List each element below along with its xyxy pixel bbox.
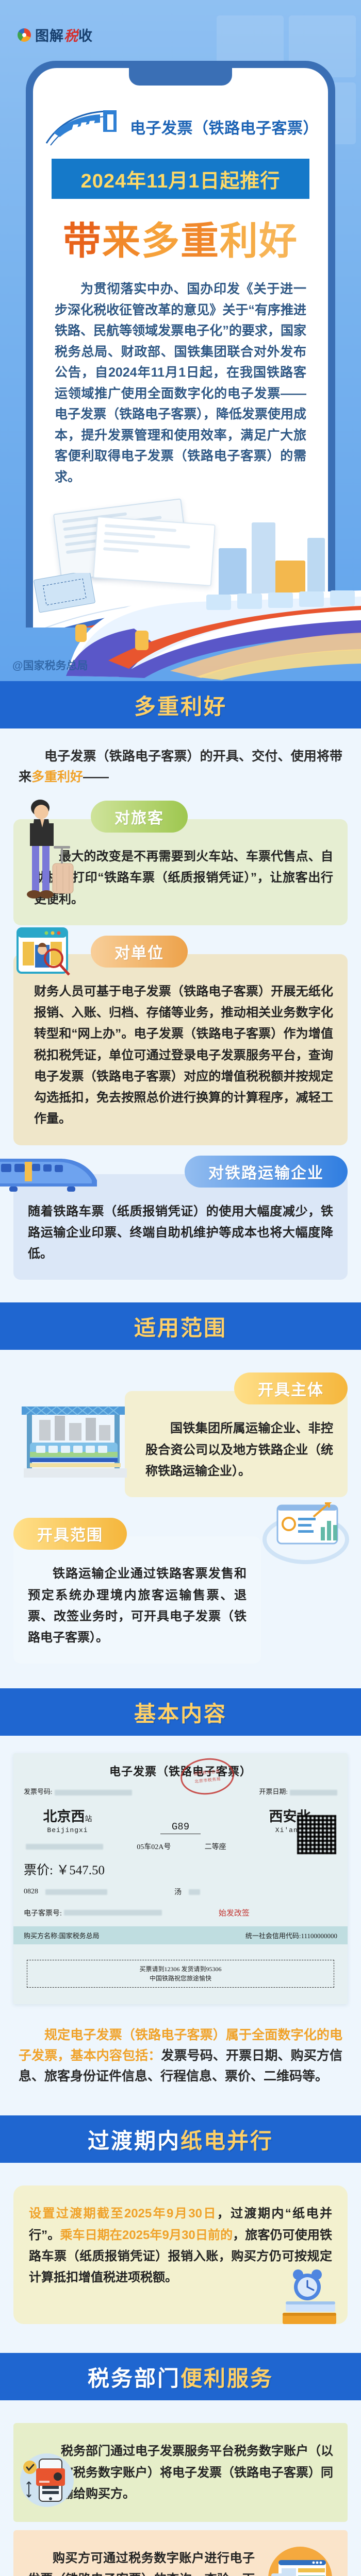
brand-logo: 图解税收 [18, 25, 93, 45]
hero-section: 图解税收 电子发票（铁路电子客票） [0, 0, 361, 681]
transition-body: 设置过渡期截至2025年9月30日，过渡期内“纸电并行”。乘车日期在2025年9… [0, 2185, 361, 2353]
invoice-seat-no: 05车02A号 [137, 1841, 171, 1852]
card-issue-scope-body: 铁路运输企业通过铁路客票发售和预定系统办理境内旅客运输售票、退票、改签业务时，可… [13, 1536, 261, 1664]
invoice-price: 票价: ￥547.50 [24, 1860, 337, 1878]
invoice-route-row: 北京西站 Beijingxi G89 西安北站 Xi'anbei [24, 1805, 337, 1834]
invoice-footer: 买票请到12306 发货请到95306 中国铁路祝您旅途愉快 [24, 1952, 337, 2004]
train-logo-icon [42, 107, 125, 146]
station-illustration-icon [19, 1393, 132, 1486]
invoice-date-field: 开票日期: [259, 1786, 337, 1796]
benefits-body: 电子发票（铁路电子客票）的开具、交付、使用将带来多重利好—— [0, 728, 361, 1302]
invoice-qr-icon [297, 1815, 336, 1854]
card-traveler: 对旅客 最大的改变是不再需要到火车站、车票代售点、自助机上打印“铁路车票（纸质报… [13, 801, 348, 925]
invoice-sample-wrapper: 电子发票（铁路电子客票） 国家税务总局 北京市税务局 发票号码: 开票日期: 北… [13, 1753, 348, 2004]
invoice-passenger-row: 0828 汤 [24, 1887, 337, 1897]
section-banner-transition: 过渡期内纸电并行 [0, 2115, 361, 2163]
card-railway-enterprise: 对铁路运输企业 随着铁路车票（纸质报销凭证）的使用大幅度减少，铁路运输企业印票、… [13, 1156, 348, 1280]
section-banner-basic: 基本内容 [0, 1688, 361, 1736]
invoice-credit-code: 统一社会信用代码:11100000000 [245, 1930, 337, 1940]
card-service-2: 购买方可通过税务数字账户进行电子发票（铁路电子客票）的查询、查验、下载、打印和用… [13, 2530, 348, 2576]
window-search-illustration-icon [15, 926, 72, 983]
brand-mark-icon [18, 28, 31, 42]
invoice-meta-row: 发票号码: 开票日期: [24, 1786, 337, 1796]
infographic-page: 图解税收 电子发票（铁路电子客票） [0, 0, 361, 2576]
invoice-change-flag: 始发改签 [219, 1907, 250, 1918]
invoice-eticket-row: 电子客票号: 始发改签 [24, 1907, 337, 1918]
invoice-footer-box: 买票请到12306 发货请到95306 中国铁路祝您旅途愉快 [27, 1960, 334, 1988]
basic-summary: 规定电子发票（铁路电子客票）属于全面数字化的电子发票，基本内容包括：发票号码、开… [0, 2004, 361, 2090]
card-organization: 对单位 财务人员可基于电子发票（铁路电子客票）开展无纸化报销、入账、归档、存储等… [13, 936, 348, 1145]
traveler-illustration-icon [17, 796, 78, 925]
invoice-number-field: 发票号码: [24, 1786, 132, 1796]
browser-illustration-icon [264, 2543, 336, 2576]
invoice-seat-row: 05车02A号 二等座 [24, 1841, 337, 1852]
invoice-buyer-bar: 购买方名称:国家税务总局 统一社会信用代码:11100000000 [13, 1926, 348, 1944]
phone-card-illustration-icon [17, 2450, 77, 2511]
card-issuer: 开具主体 国铁集团所属运输企业、非控股合资公司以及地方铁路企业（统称铁路运输企业… [13, 1372, 348, 1497]
hero-watermark: @国家税务总局 [12, 657, 88, 673]
phone-notch [129, 68, 232, 86]
section-banner-benefits: 多重利好 [0, 681, 361, 728]
phone-mockup: 电子发票（铁路电子客票） 2024年11月1日起推行 带来多重利好 为贯彻落实中… [26, 61, 335, 628]
invoice-from-station: 北京西站 Beijingxi [24, 1805, 111, 1834]
hero-logo-title: 电子发票（铁路电子客票） [130, 115, 319, 138]
section-banner-service: 税务部门便利服务 [0, 2353, 361, 2400]
invoice-buyer-name: 购买方名称:国家税务总局 [24, 1930, 100, 1940]
basic-body: 电子发票（铁路电子客票） 国家税务总局 北京市税务局 发票号码: 开票日期: 北… [0, 1753, 361, 2115]
card-issue-scope: 开具范围 铁路运输企业通过铁路客票发售和预定系统办理境内旅客运输售票、退票、改签… [13, 1518, 348, 1664]
invoice-passenger-name: 汤 [174, 1887, 182, 1897]
card-issuer-body: 国铁集团所属运输企业、非控股合资公司以及地方铁路企业（统称铁路运输企业）。 [125, 1391, 348, 1497]
dashboard-illustration-icon [262, 1495, 350, 1572]
section-banner-scope: 适用范围 [0, 1302, 361, 1350]
benefits-lead: 电子发票（铁路电子客票）的开具、交付、使用将带来多重利好—— [0, 728, 361, 790]
clock-books-illustration-icon [273, 2265, 340, 2327]
service-body: 税务部门通过电子发票服务平台税务数字账户（以下简称税务数字账户）将电子发票（铁路… [0, 2423, 361, 2576]
train-side-illustration-icon [0, 1153, 118, 1197]
card-transition: 设置过渡期截至2025年9月30日，过渡期内“纸电并行”。乘车日期在2025年9… [13, 2185, 348, 2324]
pill-issue-scope: 开具范围 [13, 1518, 127, 1550]
pill-traveler: 对旅客 [91, 801, 188, 833]
hero-logo-row: 电子发票（铁路电子客票） [33, 93, 328, 150]
scope-body: 开具主体 国铁集团所属运输企业、非控股合资公司以及地方铁路企业（统称铁路运输企业… [0, 1372, 361, 1688]
hero-big-title: 带来多重利好 [33, 210, 328, 265]
hero-paragraph: 为贯彻落实中办、国办印发《关于进一步深化税收征管改革的意见》关于“有序推进铁路、… [55, 279, 306, 487]
card-service-1: 税务部门通过电子发票服务平台税务数字账户（以下简称税务数字账户）将电子发票（铁路… [13, 2423, 348, 2522]
invoice-seat-class: 二等座 [205, 1841, 226, 1852]
pill-organization: 对单位 [91, 936, 188, 968]
phone-screen: 电子发票（铁路电子客票） 2024年11月1日起推行 带来多重利好 为贯彻落实中… [33, 68, 328, 628]
pill-issuer: 开具主体 [234, 1372, 348, 1404]
invoice-train-number: G89 [139, 1821, 222, 1834]
hero-date-banner: 2024年11月1日起推行 [52, 159, 309, 199]
pill-railway-enterprise: 对铁路运输企业 [185, 1156, 348, 1188]
invoice-sample: 电子发票（铁路电子客票） 国家税务总局 北京市税务局 发票号码: 开票日期: 北… [13, 1753, 348, 2004]
brand-title: 图解税收 [35, 25, 93, 45]
